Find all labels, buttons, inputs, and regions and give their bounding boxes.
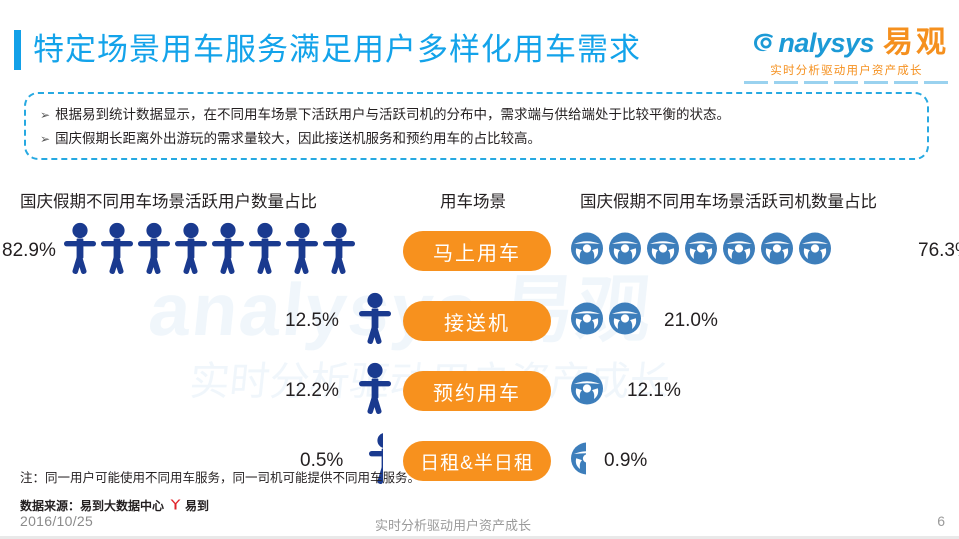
data-source-brand: 易到 bbox=[185, 497, 209, 514]
person-icon bbox=[211, 223, 245, 280]
user-icon-group bbox=[358, 293, 392, 350]
scene-pill[interactable]: 日租&半日租 bbox=[403, 441, 551, 481]
steering-wheel-icon bbox=[646, 232, 680, 271]
person-icon bbox=[248, 223, 282, 280]
data-source-label: 数据来源：易到大数据中心 bbox=[20, 497, 164, 514]
column-header-scene: 用车场景 bbox=[440, 188, 506, 212]
person-icon bbox=[100, 223, 134, 280]
user-percentage: 12.2% bbox=[285, 380, 339, 402]
steering-wheel-icon bbox=[608, 302, 642, 341]
person-icon bbox=[358, 363, 392, 420]
pictogram-chart: 82.9%马上用车76.3%12.5%接送机21.0%12.2%预约用车12.1… bbox=[0, 216, 959, 496]
user-percentage: 12.5% bbox=[285, 310, 339, 332]
bullet-item: ➢ 根据易到统计数据显示，在不同用车场景下活跃用户与活跃司机的分布中，需求端与供… bbox=[40, 103, 913, 127]
page-title: 特定场景用车服务满足用户多样化用车需求 bbox=[14, 30, 641, 70]
steering-wheel-icon bbox=[722, 232, 756, 271]
page-number: 6 bbox=[937, 513, 945, 529]
bullet-item: ➢ 国庆假期长距离外出游玩的需求量较大，因此接送机服务和预约用车的占比较高。 bbox=[40, 127, 913, 151]
column-header-drivers: 国庆假期不同用车场景活跃司机数量占比 bbox=[580, 188, 877, 212]
driver-icon-group bbox=[570, 442, 586, 481]
person-icon bbox=[322, 223, 356, 280]
person-icon bbox=[63, 223, 97, 280]
bullet-text: 国庆假期长距离外出游玩的需求量较大，因此接送机服务和预约用车的占比较高。 bbox=[55, 127, 541, 151]
steering-wheel-icon bbox=[570, 372, 604, 411]
publish-date: 2016/10/25 bbox=[20, 513, 93, 529]
driver-icon-group bbox=[570, 372, 604, 411]
data-source: 数据来源：易到大数据中心 易到 bbox=[20, 497, 209, 514]
yidao-logo-icon bbox=[169, 498, 182, 513]
bullet-text: 根据易到统计数据显示，在不同用车场景下活跃用户与活跃司机的分布中，需求端与供给端… bbox=[55, 103, 730, 127]
steering-wheel-icon bbox=[570, 232, 604, 271]
table-row: 12.5%接送机21.0% bbox=[0, 286, 959, 356]
person-icon bbox=[285, 223, 319, 280]
driver-percentage: 21.0% bbox=[664, 310, 718, 332]
logo-chinese: 易观 bbox=[883, 28, 949, 58]
summary-box: ➢ 根据易到统计数据显示，在不同用车场景下活跃用户与活跃司机的分布中，需求端与供… bbox=[24, 92, 929, 160]
logo-english: nalysys bbox=[778, 30, 874, 57]
table-row: 12.2%预约用车12.1% bbox=[0, 356, 959, 426]
scene-pill[interactable]: 马上用车 bbox=[403, 231, 551, 271]
title-text: 特定场景用车服务满足用户多样化用车需求 bbox=[33, 30, 641, 70]
slide-root: analysys 易观 实时分析驱动用户资产成长 特定场景用车服务满足用户多样化… bbox=[0, 0, 959, 539]
user-percentage: 82.9% bbox=[2, 240, 56, 262]
driver-percentage: 12.1% bbox=[627, 380, 681, 402]
bullet-marker-icon: ➢ bbox=[40, 127, 50, 151]
steering-wheel-icon-half bbox=[570, 442, 586, 481]
swirl-icon bbox=[751, 30, 777, 56]
logo-underline bbox=[744, 81, 949, 84]
table-row: 82.9%马上用车76.3% bbox=[0, 216, 959, 286]
driver-percentage: 0.9% bbox=[604, 450, 647, 472]
logo-tagline: 实时分析驱动用户资产成长 bbox=[744, 62, 949, 78]
column-header-users: 国庆假期不同用车场景活跃用户数量占比 bbox=[20, 188, 317, 212]
person-icon bbox=[358, 293, 392, 350]
driver-icon-group bbox=[570, 232, 832, 271]
steering-wheel-icon bbox=[570, 302, 604, 341]
footer-slogan: 实时分析驱动用户资产成长 bbox=[375, 515, 531, 534]
steering-wheel-icon bbox=[760, 232, 794, 271]
user-icon-group bbox=[63, 223, 356, 280]
analysys-logo: nalysys 易观 实时分析驱动用户资产成长 bbox=[744, 26, 949, 84]
scene-pill[interactable]: 预约用车 bbox=[403, 371, 551, 411]
user-icon-group bbox=[358, 363, 392, 420]
scene-pill[interactable]: 接送机 bbox=[403, 301, 551, 341]
person-icon bbox=[174, 223, 208, 280]
bullet-marker-icon: ➢ bbox=[40, 103, 50, 127]
steering-wheel-icon bbox=[798, 232, 832, 271]
footnote: 注：同一用户可能使用不同用车服务，同一司机可能提供不同用车服务。 bbox=[20, 467, 420, 486]
driver-icon-group bbox=[570, 302, 642, 341]
title-accent-bar bbox=[14, 30, 21, 70]
driver-percentage: 76.3% bbox=[918, 240, 959, 262]
person-icon bbox=[137, 223, 171, 280]
steering-wheel-icon bbox=[684, 232, 718, 271]
column-headers: 国庆假期不同用车场景活跃用户数量占比 用车场景 国庆假期不同用车场景活跃司机数量… bbox=[0, 188, 959, 216]
steering-wheel-icon bbox=[608, 232, 642, 271]
